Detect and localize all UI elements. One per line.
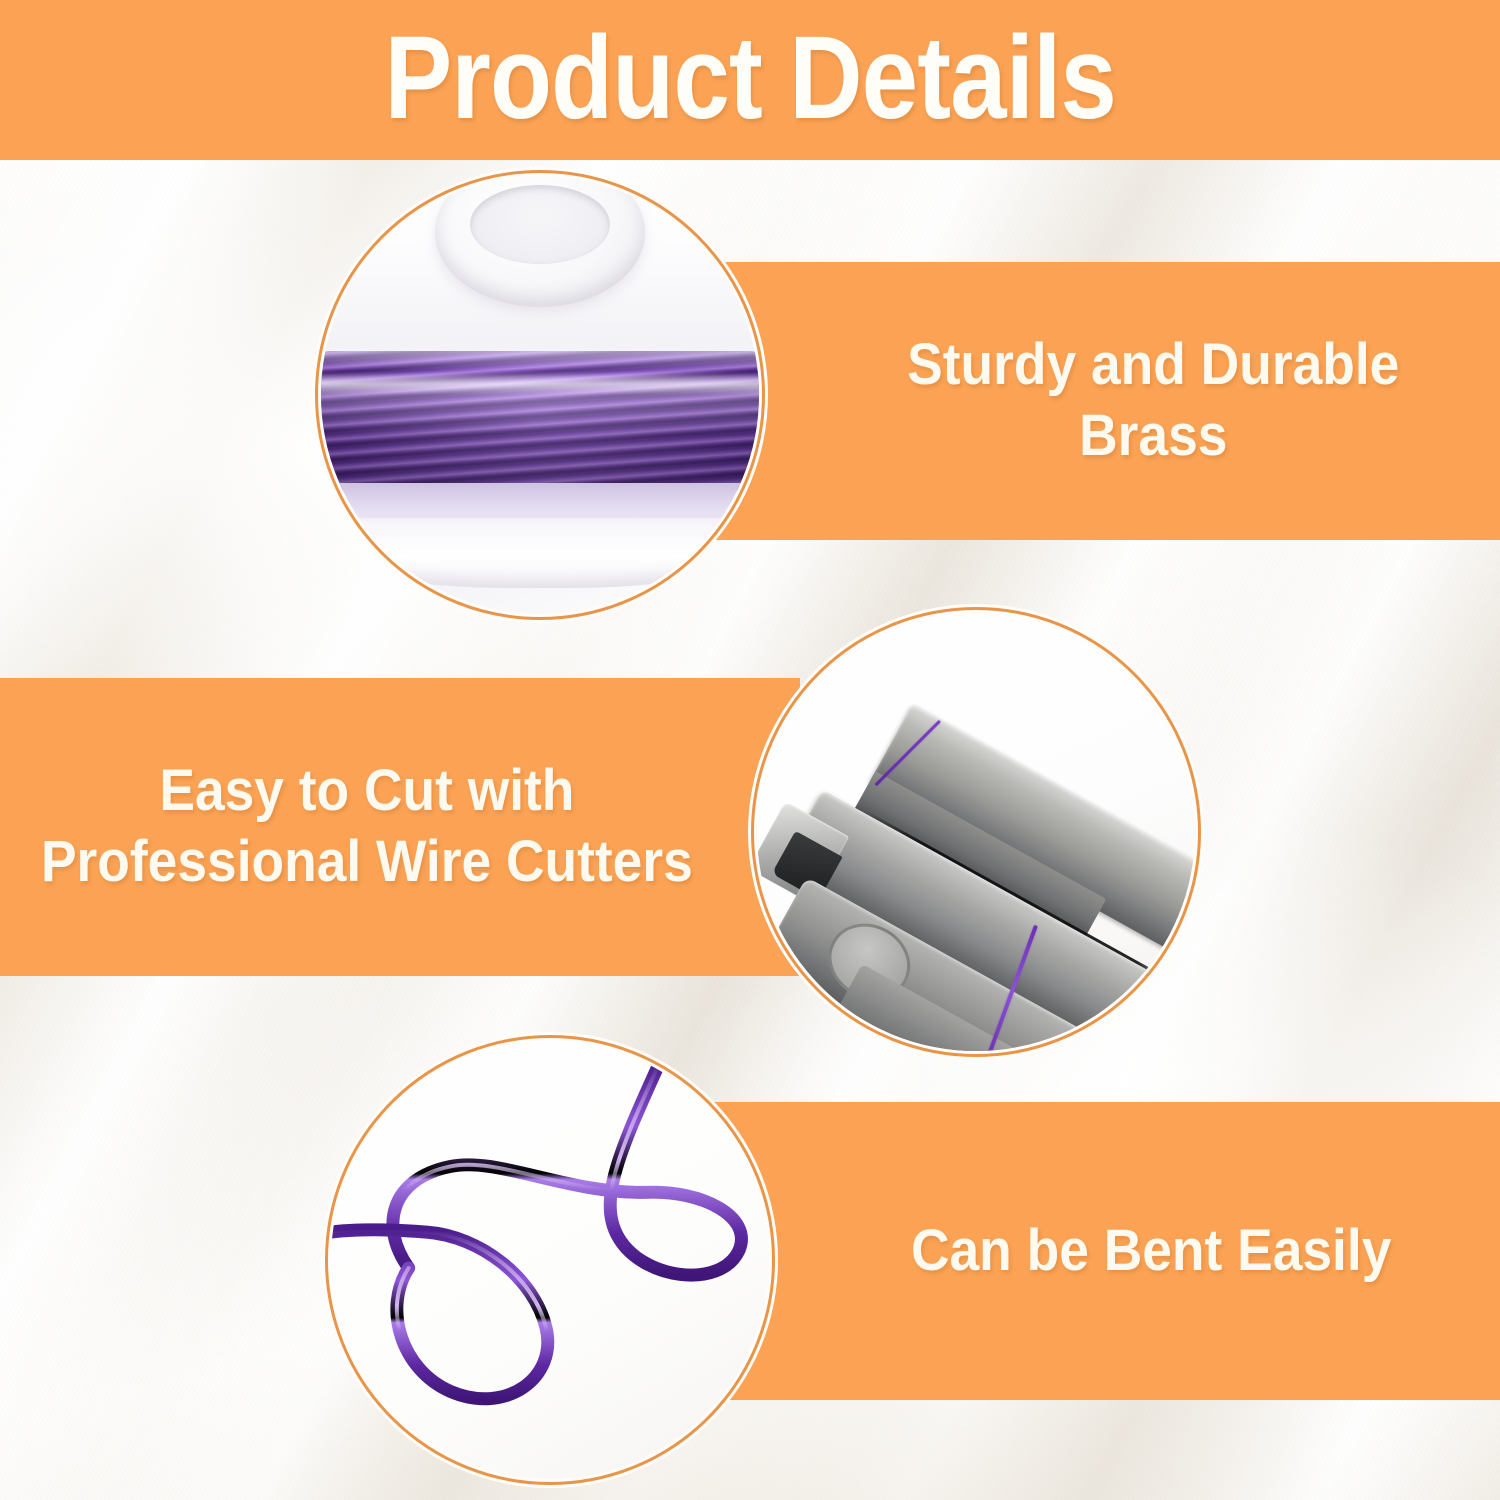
wire-highlight xyxy=(321,373,759,395)
page-title: Product Details xyxy=(384,19,1115,137)
wire-cutter-photo xyxy=(748,604,1204,1060)
spool-photo-inner xyxy=(321,176,759,614)
header-bar: Product Details xyxy=(0,0,1500,160)
wire-highlight-left xyxy=(331,1230,548,1399)
bent-wire-drawing xyxy=(331,1041,769,1479)
feature-label-cutting: Easy to Cut with Professional Wire Cutte… xyxy=(32,756,768,898)
spool-base xyxy=(321,518,759,588)
cutter-photo-inner xyxy=(757,613,1195,1051)
bent-wire-loops-photo xyxy=(322,1032,778,1488)
wire-highlight-right xyxy=(393,1063,742,1275)
spool-hub-hole xyxy=(470,185,610,264)
product-details-infographic: Product Details Sturdy and Durable Brass… xyxy=(0,0,1500,1500)
feature-banner-cutting: Easy to Cut with Professional Wire Cutte… xyxy=(0,678,800,976)
wire-loop-left xyxy=(331,1230,548,1399)
bent-wire-photo-inner xyxy=(331,1041,769,1479)
purple-wire-spool-photo xyxy=(312,167,768,623)
